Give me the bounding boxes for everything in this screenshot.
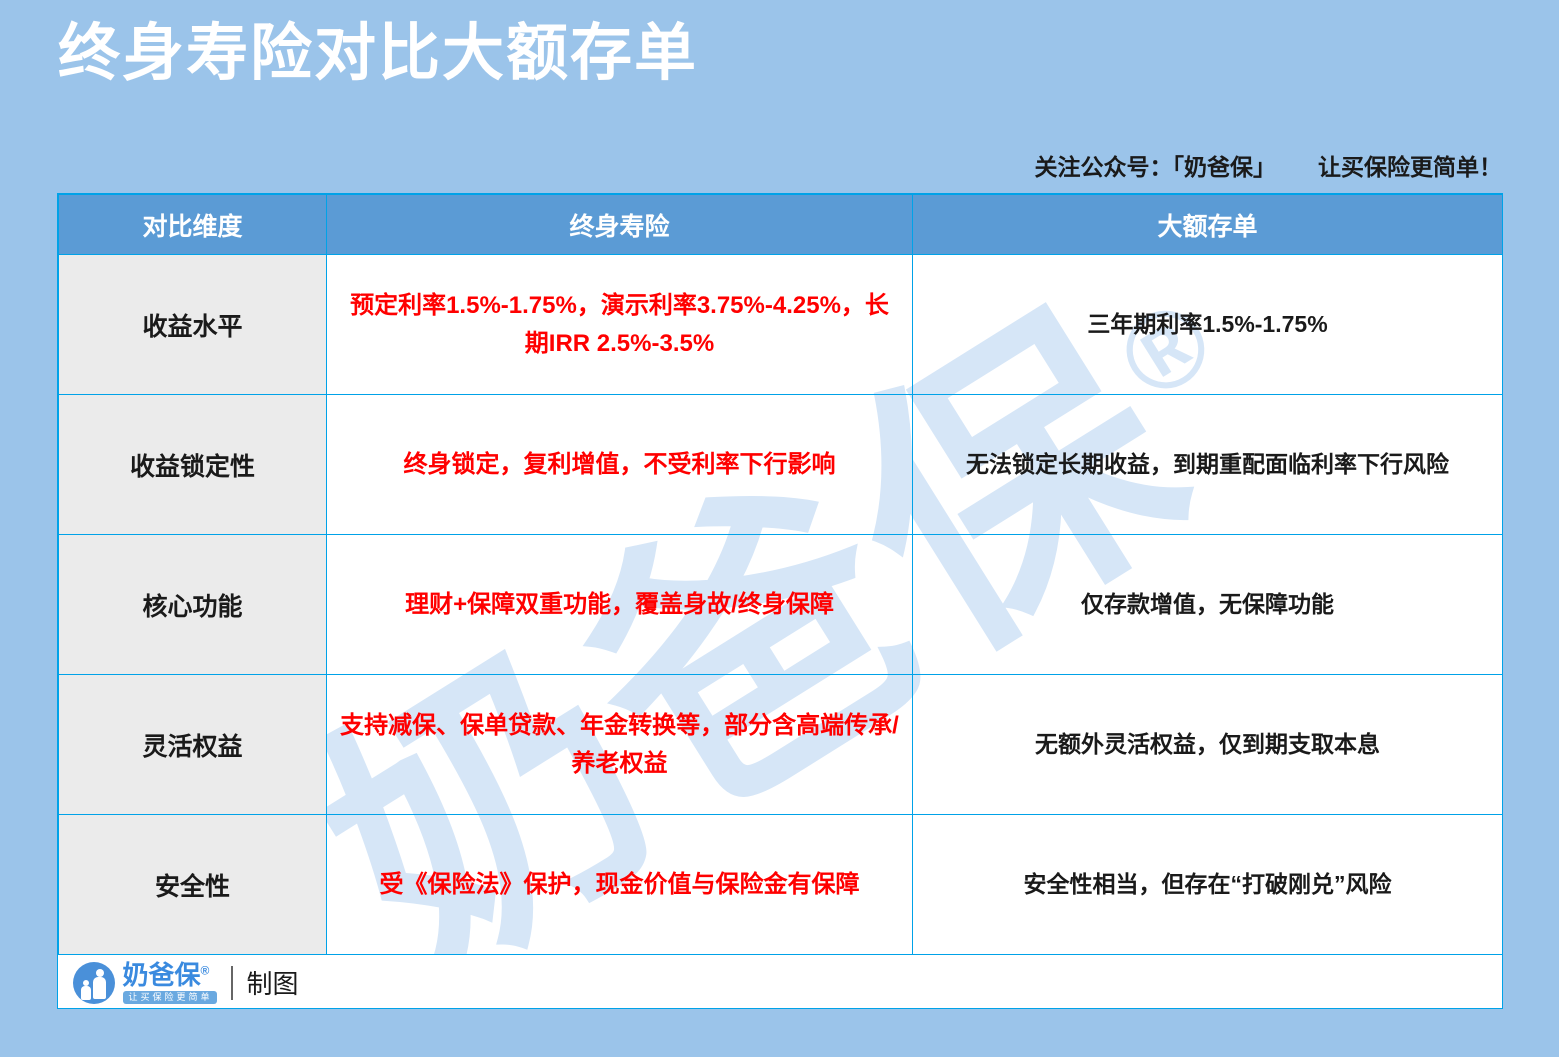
table-row: 安全性 受《保险法》保护，现金价值与保险金有保障 安全性相当，但存在“打破刚兑”… — [59, 815, 1503, 955]
row-life-insurance-value: 支持减保、保单贷款、年金转换等，部分含高端传承/养老权益 — [327, 675, 913, 815]
comparison-table-container: 奶爸保® 对比维度 终身寿险 大额存单 收益水平 预定利率1.5%-1.75%，… — [57, 193, 1503, 1009]
table-row: 灵活权益 支持减保、保单贷款、年金转换等，部分含高端传承/养老权益 无额外灵活权… — [59, 675, 1503, 815]
row-dimension-label: 收益锁定性 — [59, 395, 327, 535]
brand-tagline: 让买保险更简单 — [123, 991, 217, 1004]
subtitle-bar: 关注公众号：「奶爸保」 让买保险更简单！ — [1035, 148, 1503, 182]
brand-name-text: 奶爸保 — [123, 960, 201, 990]
comparison-table: 对比维度 终身寿险 大额存单 收益水平 预定利率1.5%-1.75%，演示利率3… — [58, 194, 1503, 1009]
column-header-life-insurance: 终身寿险 — [327, 195, 913, 255]
logo-child-body-shape — [81, 986, 91, 1000]
row-dimension-label: 收益水平 — [59, 255, 327, 395]
table-row: 收益锁定性 终身锁定，复利增值，不受利率下行影响 无法锁定长期收益，到期重配面临… — [59, 395, 1503, 535]
slogan-text: 让买保险更简单！ — [1318, 148, 1502, 182]
column-header-dimension: 对比维度 — [59, 195, 327, 255]
row-dimension-label: 安全性 — [59, 815, 327, 955]
row-life-insurance-value: 受《保险法》保护，现金价值与保险金有保障 — [327, 815, 913, 955]
brand-logo: 奶爸保® 让买保险更简单 — [73, 962, 217, 1004]
row-deposit-value: 三年期利率1.5%-1.75% — [913, 255, 1503, 395]
logo-adult-body-shape — [93, 977, 106, 999]
row-dimension-label: 灵活权益 — [59, 675, 327, 815]
row-dimension-label: 核心功能 — [59, 535, 327, 675]
footer-cell: 奶爸保® 让买保险更简单 制图 — [59, 955, 1503, 1010]
row-deposit-value: 安全性相当，但存在“打破刚兑”风险 — [913, 815, 1503, 955]
row-life-insurance-value: 预定利率1.5%-1.75%，演示利率3.75%-4.25%，长期IRR 2.5… — [327, 255, 913, 395]
brand-name: 奶爸保® — [123, 962, 217, 988]
page-title: 终身寿险对比大额存单 — [58, 18, 698, 89]
logo-child-head-shape — [83, 980, 89, 986]
brand-text-block: 奶爸保® 让买保险更简单 — [123, 962, 217, 1004]
table-row: 核心功能 理财+保障双重功能，覆盖身故/终身保障 仅存款增值，无保障功能 — [59, 535, 1503, 675]
row-deposit-value: 无法锁定长期收益，到期重配面临利率下行风险 — [913, 395, 1503, 535]
registered-mark-icon: ® — [201, 963, 210, 977]
table-row: 收益水平 预定利率1.5%-1.75%，演示利率3.75%-4.25%，长期IR… — [59, 255, 1503, 395]
row-life-insurance-value: 理财+保障双重功能，覆盖身故/终身保障 — [327, 535, 913, 675]
column-header-deposit: 大额存单 — [913, 195, 1503, 255]
footer-branding: 奶爸保® 让买保险更简单 制图 — [73, 955, 1503, 1009]
credit-label: 制图 — [247, 964, 299, 1001]
row-deposit-value: 仅存款增值，无保障功能 — [913, 535, 1503, 675]
follow-account-text: 关注公众号：「奶爸保」 — [1035, 148, 1277, 182]
logo-adult-head-shape — [96, 969, 104, 977]
table-footer-row: 奶爸保® 让买保险更简单 制图 — [59, 955, 1503, 1010]
parent-child-logo-icon — [73, 962, 115, 1004]
footer-divider — [231, 966, 233, 1000]
row-deposit-value: 无额外灵活权益，仅到期支取本息 — [913, 675, 1503, 815]
table-header-row: 对比维度 终身寿险 大额存单 — [59, 195, 1503, 255]
row-life-insurance-value: 终身锁定，复利增值，不受利率下行影响 — [327, 395, 913, 535]
